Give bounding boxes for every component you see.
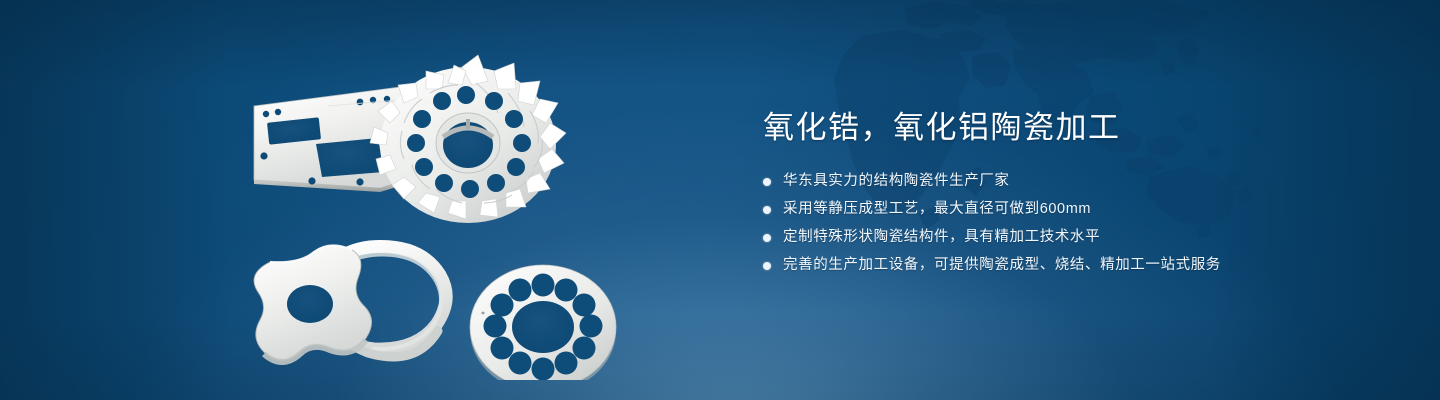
list-item: 完善的生产加工设备，可提供陶瓷成型、烧结、精加工一站式服务 [763,254,1383,277]
feature-text: 定制特殊形状陶瓷结构件，具有精加工技术水平 [783,226,1100,249]
bullet-dot-icon [763,234,771,242]
bullet-dot-icon [763,206,771,214]
list-item: 定制特殊形状陶瓷结构件，具有精加工技术水平 [763,226,1383,249]
bullet-dot-icon [763,262,771,270]
list-item: 华东具实力的结构陶瓷件生产厂家 [763,170,1383,193]
ceramic-cross-blade [254,245,372,362]
ceramic-perforated-disc [470,265,616,380]
feature-list: 华东具实力的结构陶瓷件生产厂家 采用等静压成型工艺，最大直径可做到600mm 定… [763,170,1383,277]
feature-text: 完善的生产加工设备，可提供陶瓷成型、烧结、精加工一站式服务 [783,254,1221,277]
promo-banner: 氧化锆，氧化铝陶瓷加工 华东具实力的结构陶瓷件生产厂家 采用等静压成型工艺，最大… [0,0,1440,400]
feature-text: 采用等静压成型工艺，最大直径可做到600mm [783,198,1091,221]
banner-copy: 氧化锆，氧化铝陶瓷加工 华东具实力的结构陶瓷件生产厂家 采用等静压成型工艺，最大… [763,108,1383,282]
list-item: 采用等静压成型工艺，最大直径可做到600mm [763,198,1383,221]
ceramic-parts-photo-group [230,40,700,380]
page-title: 氧化锆，氧化铝陶瓷加工 [763,108,1383,148]
ceramic-impeller-wheel [370,55,566,223]
feature-text: 华东具实力的结构陶瓷件生产厂家 [783,170,1010,193]
bullet-dot-icon [763,178,771,186]
